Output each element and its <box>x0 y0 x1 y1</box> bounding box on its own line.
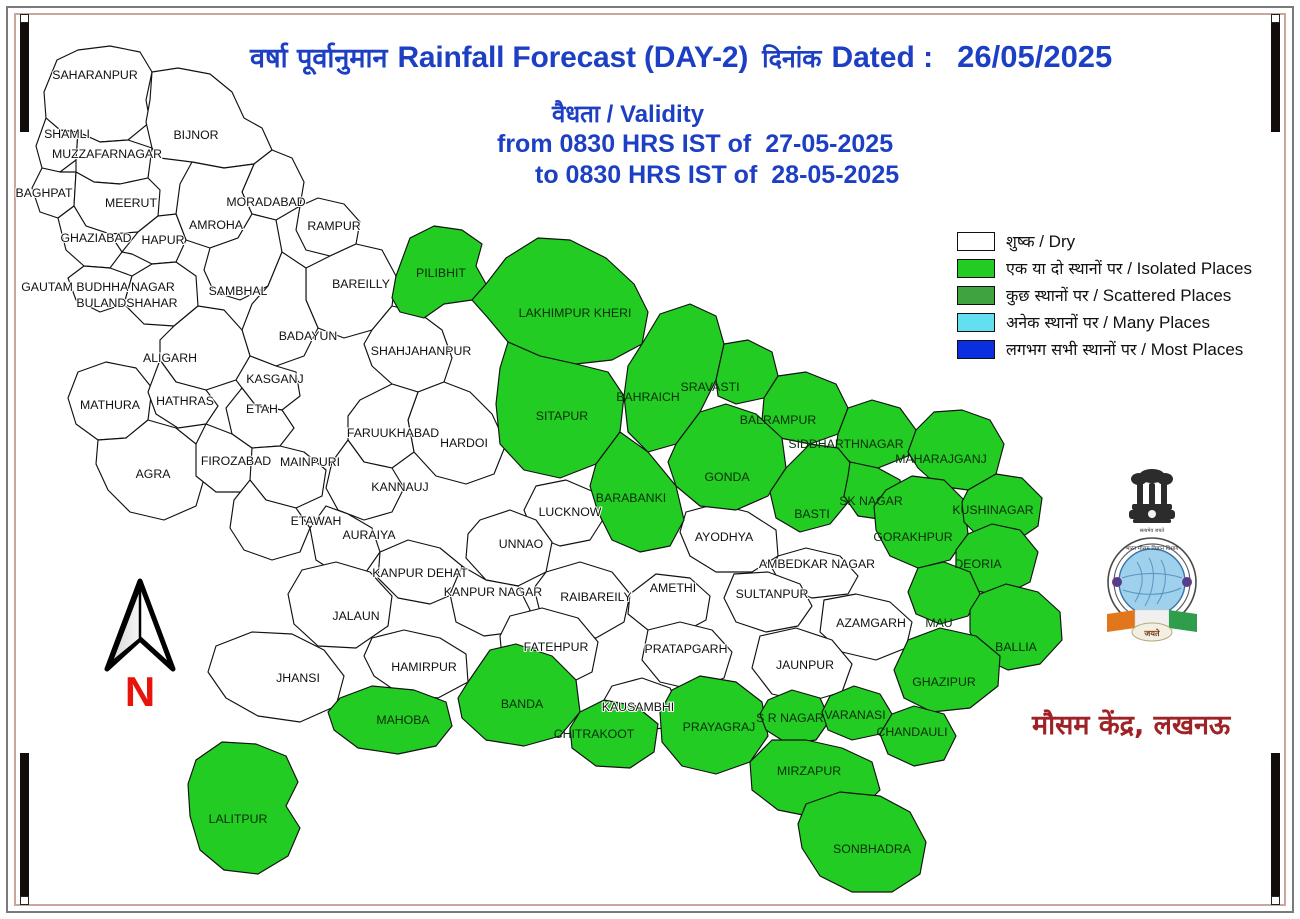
district-label: JAUNPUR <box>776 658 834 672</box>
legend-swatch <box>957 232 995 251</box>
district-label: PRAYAGRAJ <box>683 720 756 734</box>
district-label: GONDA <box>704 470 750 484</box>
district-label: VARANASI <box>824 708 885 722</box>
page-title: वर्षा पूर्वानुमान Rainfall Forecast (DAY… <box>250 38 1112 75</box>
district-label: AYODHYA <box>695 530 754 544</box>
forecast-map-page: SAHARANPURSHAMLIMUZZAFARNAGARBIJNORBAGHP… <box>0 0 1300 919</box>
seal-globe <box>1119 549 1185 615</box>
district-label: CHANDAULI <box>876 725 947 739</box>
dated-hindi: दिनांक <box>762 41 821 75</box>
legend-row[interactable]: अनेक स्थानों पर / Many Places <box>957 311 1252 333</box>
title-hindi: वर्षा पूर्वानुमान <box>250 38 387 75</box>
district-label: RAIBAREILY <box>560 590 632 604</box>
north-arrow: N <box>95 577 185 713</box>
legend-label-hindi: लगभग सभी स्थानों पर <box>1006 340 1137 359</box>
district-label: BALLIA <box>995 640 1037 654</box>
district-label: KANPUR DEHAT <box>372 566 468 580</box>
district-label: MEERUT <box>105 196 157 210</box>
legend-swatch <box>957 313 995 332</box>
rainfall-legend: शुष्क / Dryएक या दो स्थानों पर / Isolate… <box>957 230 1252 360</box>
legend-label-english: / Scattered Places <box>1093 286 1231 305</box>
district-label: BAREILLY <box>332 277 390 291</box>
legend-swatch <box>957 286 995 305</box>
emblem-caption: सत्यमेव जयते <box>1140 527 1165 534</box>
district-label: LALITPUR <box>209 812 268 826</box>
district-label: LAKHIMPUR KHERI <box>519 306 632 320</box>
district-label: BADAYUN <box>279 329 338 343</box>
district-label: KAUSAMBHI <box>602 700 674 714</box>
district-label: LUCKNOW <box>539 505 602 519</box>
district-mau[interactable] <box>908 562 980 624</box>
district-label: ETAWAH <box>291 514 342 528</box>
district-label: GHAZIPUR <box>912 675 976 689</box>
imd-logo: सत्यमेव जयते भारत मौसम विज्ञान विभाग IND… <box>1087 462 1217 662</box>
district-label: MAHARAJGANJ <box>895 452 987 466</box>
district-label: SHAMLI <box>44 127 90 141</box>
imd-logo-icon: सत्यमेव जयते भारत मौसम विज्ञान विभाग IND… <box>1087 462 1217 657</box>
validity-to-date: 28-05-2025 <box>771 161 899 189</box>
district-label: FIROZABAD <box>201 454 271 468</box>
validity-heading: वैधता / Validity <box>497 100 899 129</box>
district-label: MATHURA <box>80 398 141 412</box>
legend-swatch <box>957 340 995 359</box>
district-label: S R NAGAR <box>756 711 824 725</box>
district-label: ETAH <box>246 402 278 416</box>
legend-label-hindi: शुष्क <box>1006 232 1035 251</box>
legend-label-hindi: अनेक स्थानों पर <box>1006 313 1099 332</box>
ashoka-emblem-icon <box>1129 469 1175 523</box>
legend-row[interactable]: एक या दो स्थानों पर / Isolated Places <box>957 257 1252 279</box>
district-label: JHANSI <box>276 671 320 685</box>
district-label: SITAPUR <box>536 409 589 423</box>
district-label: KANPUR NAGAR <box>444 585 543 599</box>
district-label: GHAZIABAD <box>60 231 131 245</box>
district-label: GAUTAM BUDHHA NAGAR <box>21 280 175 294</box>
district-label: MIRZAPUR <box>777 764 841 778</box>
district-label: UNNAO <box>499 537 543 551</box>
district-label: AMROHA <box>189 218 244 232</box>
district-label: RAMPUR <box>307 219 360 233</box>
district-label: BAHRAICH <box>616 390 680 404</box>
district-label: ALIGARH <box>143 351 197 365</box>
legend-row[interactable]: कुछ स्थानों पर / Scattered Places <box>957 284 1252 306</box>
dated-label: Dated : <box>831 41 933 75</box>
legend-label-english: / Most Places <box>1141 340 1243 359</box>
district-label: MUZZAFARNAGAR <box>52 147 162 161</box>
legend-label: अनेक स्थानों पर / Many Places <box>1006 311 1210 333</box>
district-label: SRAVASTI <box>681 380 740 394</box>
district-label: BULANDSHAHAR <box>76 296 177 310</box>
met-centre-name: मौसम केंद्र, लखनऊ <box>1032 705 1230 742</box>
district-label: SULTANPUR <box>736 587 809 601</box>
district-label: KANNAUJ <box>371 480 428 494</box>
district-label: PRATAPGARH <box>645 642 728 656</box>
title-english: Rainfall Forecast (DAY-2) <box>397 41 748 75</box>
seal-ring-top-text: भारत मौसम विज्ञान विभाग <box>1126 545 1180 552</box>
district-label: MORADABAD <box>226 195 305 209</box>
district-label: BASTI <box>794 507 830 521</box>
district-label: FARUUKHABAD <box>347 426 439 440</box>
validity-hindi: वैधता <box>552 100 600 128</box>
district-label: MAU <box>925 616 952 630</box>
district-label: BIJNOR <box>173 128 218 142</box>
legend-label: एक या दो स्थानों पर / Isolated Places <box>1006 257 1252 279</box>
district-label: KUSHINAGAR <box>952 503 1033 517</box>
north-arrow-label: N <box>95 671 185 713</box>
district-label: BALRAMPUR <box>740 413 817 427</box>
seal-right-dot <box>1182 577 1192 587</box>
district-label: HARDOI <box>440 436 488 450</box>
district-label: SK NAGAR <box>839 494 903 508</box>
district-bijnor[interactable] <box>146 68 272 168</box>
legend-label-hindi: एक या दो स्थानों पर <box>1006 259 1122 278</box>
district-label: HAPUR <box>141 233 184 247</box>
legend-row[interactable]: शुष्क / Dry <box>957 230 1252 252</box>
district-label: BARABANKI <box>596 491 666 505</box>
district-label: KASGANJ <box>246 372 303 386</box>
district-label: CHITRAKOOT <box>554 727 635 741</box>
north-arrow-icon <box>95 577 185 677</box>
district-label: HAMIRPUR <box>391 660 457 674</box>
legend-label: कुछ स्थानों पर / Scattered Places <box>1006 284 1231 306</box>
district-label: SIDDHARTHNAGAR <box>788 437 903 451</box>
legend-row[interactable]: लगभग सभी स्थानों पर / Most Places <box>957 338 1252 360</box>
legend-label: शुष्क / Dry <box>1006 230 1075 252</box>
district-label: GORAKHPUR <box>873 530 952 544</box>
district-gorakhpur[interactable] <box>874 476 968 568</box>
legend-label-english: / Dry <box>1039 232 1075 251</box>
district-label: SAHARANPUR <box>52 68 138 82</box>
district-label: SAMBHAL <box>209 284 268 298</box>
district-label: AURAIYA <box>342 528 396 542</box>
district-label: AGRA <box>136 467 172 481</box>
validity-from-date: 27-05-2025 <box>765 130 893 158</box>
district-label: SONBHADRA <box>833 842 912 856</box>
district-label: SHAHJAHANPUR <box>371 344 472 358</box>
ribbon-motto: जयते <box>1143 628 1160 638</box>
legend-label-english: / Isolated Places <box>1127 259 1252 278</box>
district-label: JALAUN <box>332 609 379 623</box>
seal-left-dot <box>1112 577 1122 587</box>
validity-from-row: from 0830 HRS IST of27-05-2025 <box>497 129 899 160</box>
validity-english: Validity <box>620 101 704 128</box>
legend-label-hindi: कुछ स्थानों पर <box>1006 286 1089 305</box>
validity-from-label: from 0830 HRS IST of <box>497 130 751 158</box>
district-label: PILIBHIT <box>416 266 466 280</box>
legend-label-english: / Many Places <box>1103 313 1210 332</box>
district-label: HATHRAS <box>156 394 214 408</box>
district-lalitpur[interactable] <box>188 742 300 874</box>
district-label: AMBEDKAR NAGAR <box>759 557 875 571</box>
district-label: MAHOBA <box>376 713 430 727</box>
legend-label: लगभग सभी स्थानों पर / Most Places <box>1006 338 1243 360</box>
validity-to-label: to 0830 HRS IST of <box>535 161 757 189</box>
district-label: BANDA <box>501 697 544 711</box>
validity-to-row: to 0830 HRS IST of28-05-2025 <box>497 160 899 191</box>
district-label: FATEHPUR <box>524 640 589 654</box>
legend-swatch <box>957 259 995 278</box>
district-label: BAGHPAT <box>16 186 73 200</box>
district-label: AMETHI <box>650 581 696 595</box>
district-lakhimpur-kheri[interactable] <box>472 238 648 364</box>
validity-separator: / <box>607 101 614 128</box>
validity-block: वैधता / Validity from 0830 HRS IST of27-… <box>497 100 899 190</box>
district-label: DEORIA <box>954 557 1002 571</box>
district-label: AZAMGARH <box>836 616 906 630</box>
district-label: MAINPURI <box>280 455 340 469</box>
forecast-date: 26/05/2025 <box>957 39 1112 75</box>
